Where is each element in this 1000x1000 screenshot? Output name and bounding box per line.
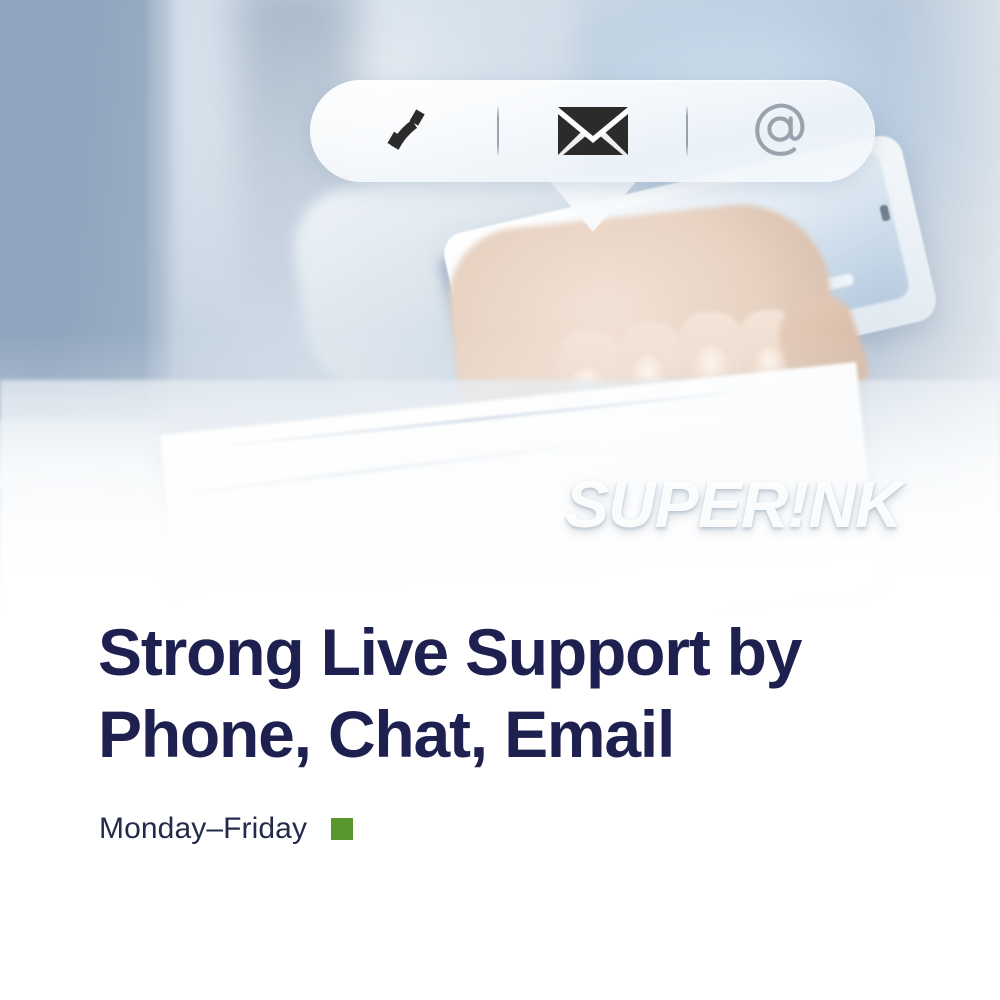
contact-item-email[interactable]	[499, 80, 686, 182]
contact-bar-items	[310, 80, 875, 182]
contact-bar	[310, 80, 875, 182]
superink-watermark: SUPER!NK	[565, 466, 902, 542]
support-banner: SUPER!NK	[0, 0, 1000, 1000]
at-sign-icon	[751, 100, 813, 162]
contact-item-at[interactable]	[688, 80, 875, 182]
green-accent-square	[331, 818, 353, 840]
page-title: Strong Live Support by Phone, Chat, Emai…	[98, 612, 918, 776]
headline-line-2: Phone, Chat, Email	[98, 697, 674, 771]
phone-icon	[375, 102, 433, 160]
headline-line-1: Strong Live Support by	[98, 615, 801, 689]
contact-item-phone[interactable]	[310, 80, 497, 182]
speech-bubble-tail	[545, 176, 641, 232]
envelope-icon	[556, 103, 630, 159]
subtitle-row: Monday–Friday	[99, 812, 353, 846]
availability-text: Monday–Friday	[99, 812, 307, 846]
